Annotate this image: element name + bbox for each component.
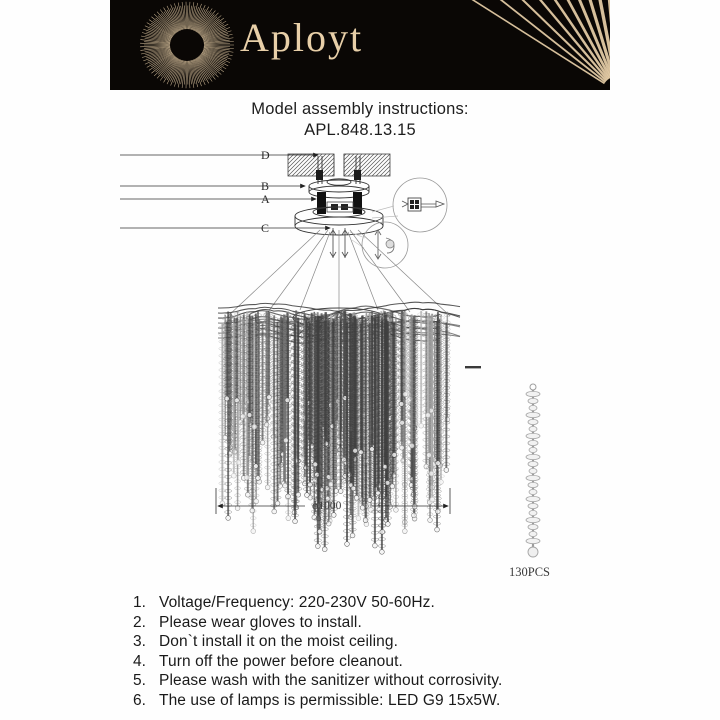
list-item-text: Don`t install it on the moist ceiling. [159,633,398,651]
list-item-number: 6. [133,692,159,710]
list-item: 3. Don`t install it on the moist ceiling… [133,633,693,653]
list-item-text: The use of lamps is permissible: LED G9 … [159,692,500,710]
list-item-text: Please wear gloves to install. [159,614,362,632]
page-title: Model assembly instructions: APL.848.13.… [0,99,720,141]
callout-label-d: D [261,148,270,163]
radiating-rays-icon [360,0,610,90]
list-item-number: 2. [133,614,159,632]
list-item-text: Please wash with the sanitizer without c… [159,672,502,690]
chandelier-technical-drawing [0,140,720,590]
brand-banner: Aployt [110,0,610,90]
list-item-number: 1. [133,594,159,612]
assembly-drawing: D B A C ɸ1000 130PCS [0,140,720,590]
callout-label-c: C [261,221,269,236]
list-item-number: 3. [133,633,159,651]
list-item: 1. Voltage/Frequency: 220-230V 50-60Hz. [133,594,693,614]
list-item-text: Turn off the power before cleanout. [159,653,403,671]
crystal-rod-cluster [219,310,450,554]
list-item: 4. Turn off the power before cleanout. [133,653,693,673]
diameter-dimension-label: ɸ1000 [312,500,341,512]
detail-callout-hook [350,222,408,268]
list-item: 6. The use of lamps is permissible: LED … [133,692,693,712]
brand-wordmark: Aployt [240,14,363,61]
callout-label-a: A [261,192,270,207]
ceiling-slab [288,154,390,176]
list-item-text: Voltage/Frequency: 220-230V 50-60Hz. [159,594,435,612]
height-tick-marker [465,366,481,368]
instruction-sheet: Aployt Model assembly instructions: APL.… [0,0,720,720]
support-posts [317,192,362,214]
part-quantity-label: 130PCS [509,565,550,580]
list-item-number: 5. [133,672,159,690]
title-line-1: Model assembly instructions: [0,99,720,120]
sunburst-icon [132,0,242,90]
list-item-number: 4. [133,653,159,671]
crystal-rod-sample [526,384,540,557]
list-item: 5. Please wash with the sanitizer withou… [133,672,693,692]
instructions-list: 1. Voltage/Frequency: 220-230V 50-60Hz. … [133,594,693,712]
title-line-2: APL.848.13.15 [0,120,720,141]
list-item: 2. Please wear gloves to install. [133,614,693,634]
